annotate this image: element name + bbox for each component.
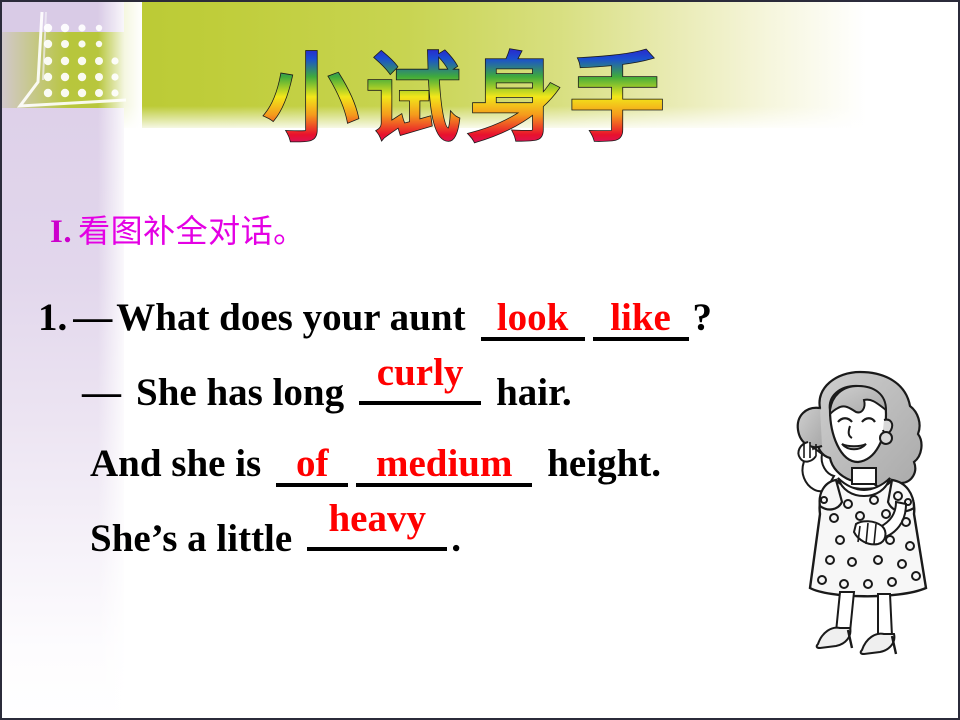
exercise-line-4: She’s a little heavy .	[38, 519, 828, 558]
line-1-text-after: ?	[693, 298, 713, 337]
blank-answer-of[interactable]: of	[276, 444, 348, 487]
line-2-text-after: hair.	[496, 373, 572, 412]
blank-answer-curly[interactable]: curly	[359, 401, 481, 405]
section-heading: I.看图补全对话。	[50, 206, 306, 252]
line-4-text-after: .	[451, 519, 461, 558]
blank-answer-like[interactable]: like	[593, 298, 689, 341]
line-3-text-before: And she is	[90, 444, 261, 483]
blank-answer-curly-word: curly	[359, 353, 481, 392]
line-1-dash: —	[73, 298, 112, 337]
exercise-line-2: — She has long curly hair.	[38, 373, 828, 412]
title-text: 小试身手	[263, 44, 671, 154]
line-2-text-before: She has long	[136, 373, 344, 412]
blank-answer-heavy[interactable]: heavy	[307, 547, 447, 551]
blank-answer-heavy-word: heavy	[307, 499, 447, 538]
line-1-text-before: What does your aunt	[116, 298, 465, 337]
section-heading-label: 看图补全对话。	[78, 212, 306, 250]
line-2-dash: —	[82, 373, 121, 412]
exercise-line-3: And she is of medium height.	[38, 444, 828, 487]
blank-answer-medium[interactable]: medium	[356, 444, 532, 487]
exercise-number: 1.	[38, 298, 67, 337]
exercise-body: 1. — What does your aunt look like ? — S…	[38, 298, 828, 590]
woman-illustration	[778, 364, 956, 656]
section-roman-numeral: I.	[50, 214, 72, 250]
dot-grid-decoration	[16, 16, 128, 108]
slide-canvas: 小试身手 I.看图补全对话。 1. — What does your aunt …	[0, 0, 960, 720]
line-3-text-after: height.	[547, 444, 661, 483]
exercise-line-1: 1. — What does your aunt look like ?	[38, 298, 828, 341]
blank-answer-look[interactable]: look	[481, 298, 585, 341]
slide-title: 小试身手	[252, 44, 682, 154]
line-4-text-before: She’s a little	[90, 519, 292, 558]
